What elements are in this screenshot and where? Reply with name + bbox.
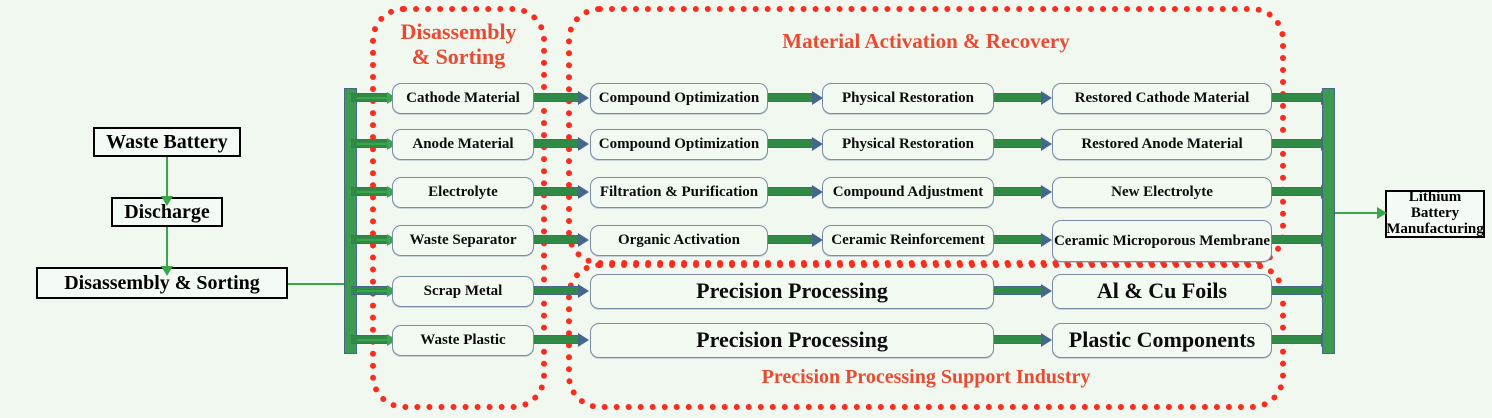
link-row5-c <box>994 286 1042 295</box>
output-box-restored-cathode-material[interactable]: Restored Cathode Material <box>1052 83 1272 114</box>
link-row2-c <box>994 139 1042 148</box>
link-row4-c <box>994 235 1042 244</box>
output-bus-bar <box>1322 88 1335 354</box>
link-row2-out <box>1272 139 1322 148</box>
stage-box-anode-physical-restoration[interactable]: Physical Restoration <box>822 129 994 160</box>
bus-to-final-arrow <box>1335 212 1377 214</box>
link-row4-out <box>1272 235 1322 244</box>
output-box-al-cu-foils[interactable]: Al & Cu Foils <box>1052 274 1272 309</box>
link-row1-a <box>534 93 579 102</box>
link-row5-a <box>534 286 579 295</box>
link-row3-out <box>1272 187 1322 196</box>
stage-box-ceramic-reinforcement[interactable]: Ceramic Reinforcement <box>822 225 994 256</box>
output-box-new-electrolyte[interactable]: New Electrolyte <box>1052 177 1272 208</box>
intake-to-bus-arrow <box>288 283 344 285</box>
link-row6-c <box>994 335 1042 344</box>
recycling-flowchart: Waste Battery Discharge Disassembly & So… <box>0 0 1492 418</box>
final-box-lithium-battery-manufacturing: Lithium Battery Manufacturing <box>1385 190 1485 238</box>
link-row2-a <box>534 139 579 148</box>
source-box-waste-plastic[interactable]: Waste Plastic <box>392 325 534 356</box>
group-title-material-activation-recovery: Material Activation & Recovery <box>566 30 1286 54</box>
intake-arrow-2 <box>166 227 168 267</box>
bus-arrow-row5 <box>357 290 387 292</box>
stage-box-cathode-physical-restoration[interactable]: Physical Restoration <box>822 83 994 114</box>
output-box-plastic-components[interactable]: Plastic Components <box>1052 323 1272 358</box>
link-row1-c <box>994 93 1042 102</box>
link-row6-out <box>1272 335 1322 344</box>
intake-box-waste-battery: Waste Battery <box>93 127 241 157</box>
bus-arrow-row3 <box>357 191 387 193</box>
stage-box-cathode-compound-optimization[interactable]: Compound Optimization <box>590 83 768 114</box>
bus-arrow-row2 <box>357 143 387 145</box>
stage-box-compound-adjustment[interactable]: Compound Adjustment <box>822 177 994 208</box>
link-row3-b <box>768 187 813 196</box>
group-title-precision-processing: Precision Processing Support Industry <box>566 366 1286 388</box>
stage-box-organic-activation[interactable]: Organic Activation <box>590 225 768 256</box>
output-box-ceramic-microporous-membrane[interactable]: Ceramic Microporous Membrane <box>1052 220 1272 262</box>
link-row1-b <box>768 93 813 102</box>
source-box-scrap-metal[interactable]: Scrap Metal <box>392 276 534 307</box>
bus-arrow-row4 <box>357 239 387 241</box>
bus-arrow-row6 <box>357 339 387 341</box>
link-row5-out <box>1272 286 1322 295</box>
source-box-cathode-material[interactable]: Cathode Material <box>392 83 534 114</box>
link-row3-c <box>994 187 1042 196</box>
link-row2-b <box>768 139 813 148</box>
link-row4-b <box>768 235 813 244</box>
group-title-disassembly-sorting: Disassembly & Sorting <box>370 20 547 69</box>
stage-box-filtration-purification[interactable]: Filtration & Purification <box>590 177 768 208</box>
output-box-restored-anode-material[interactable]: Restored Anode Material <box>1052 129 1272 160</box>
link-row4-a <box>534 235 579 244</box>
source-box-electrolyte[interactable]: Electrolyte <box>392 177 534 208</box>
stage-box-anode-compound-optimization[interactable]: Compound Optimization <box>590 129 768 160</box>
source-box-waste-separator[interactable]: Waste Separator <box>392 225 534 256</box>
stage-box-plastic-precision-processing[interactable]: Precision Processing <box>590 323 994 358</box>
bus-arrow-row1 <box>357 97 387 99</box>
link-row1-out <box>1272 93 1322 102</box>
link-row6-a <box>534 335 579 344</box>
source-box-anode-material[interactable]: Anode Material <box>392 129 534 160</box>
stage-box-metal-precision-processing[interactable]: Precision Processing <box>590 274 994 309</box>
link-row3-a <box>534 187 579 196</box>
intake-arrow-1 <box>166 157 168 197</box>
input-bus-bar <box>344 88 357 354</box>
